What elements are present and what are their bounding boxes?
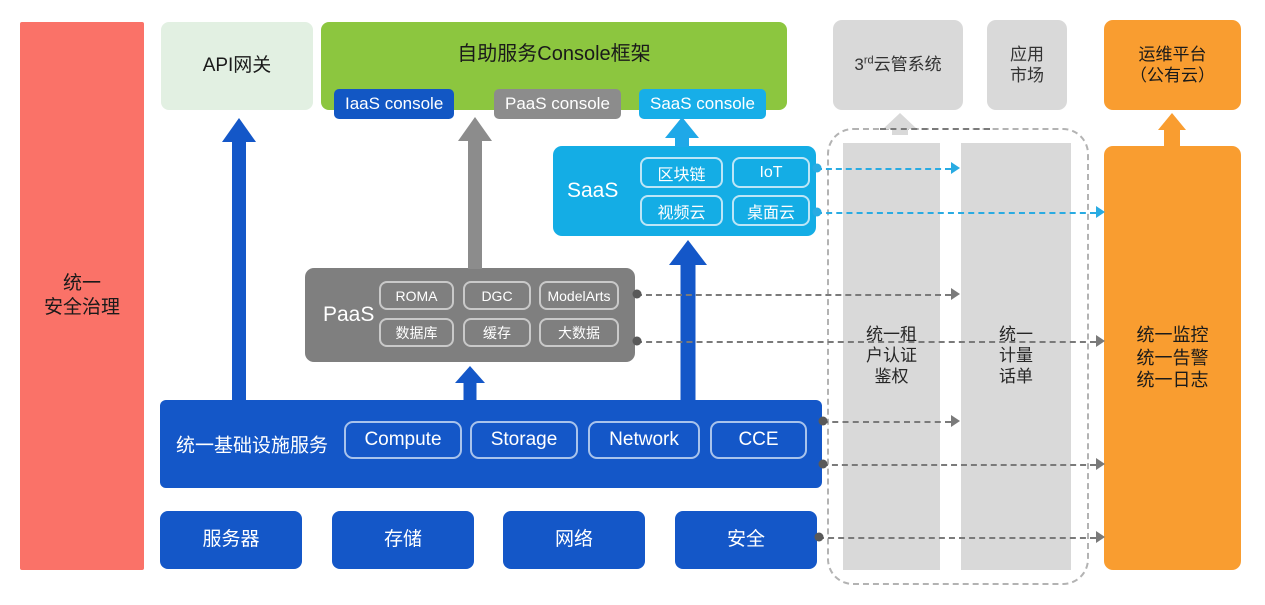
arrow-to-third-party-cloud-mgmt: [883, 113, 917, 135]
console-framework-title: 自助服务Console框架: [321, 42, 787, 67]
paas-service-cache[interactable]: 缓存: [463, 318, 531, 347]
paas-service-dgc[interactable]: DGC: [463, 281, 531, 310]
dashed-line-saas-to-ops: [816, 212, 1096, 214]
dashed-line-resource-to-ops-arrow: [1096, 531, 1105, 543]
third-party-cloud-mgmt-label: 3rd云管系统: [854, 54, 941, 75]
ops-platform-line1: 统一监控: [1137, 324, 1209, 347]
paas-service-bigdata[interactable]: 大数据: [539, 318, 619, 347]
ops-platform-column: 统一监控 统一告警 统一日志: [1104, 146, 1241, 570]
dashed-line-paas-to-ops-origin: [633, 337, 642, 346]
app-market-line1: 应用: [1010, 44, 1044, 65]
paas-layer-label: PaaS: [323, 303, 374, 327]
console-framework-box: 自助服务Console框架 IaaS console PaaS console …: [321, 22, 787, 110]
app-market-line2: 市场: [1010, 65, 1044, 86]
dashed-line-paas-to-auth: [636, 294, 951, 296]
infrastructure-layer-label: 统一基础设施服务: [176, 431, 328, 458]
infra-service-compute[interactable]: Compute: [344, 421, 462, 459]
console-chip-saas[interactable]: SaaS console: [639, 89, 766, 119]
resource-box-network-label: 网络: [555, 528, 593, 552]
paas-service-modelarts[interactable]: ModelArts: [539, 281, 619, 310]
paas-service-database[interactable]: 数据库: [379, 318, 454, 347]
dashed-line-infra-to-auth-arrow: [951, 415, 960, 427]
ops-platform-top-box: 运维平台 （公有云）: [1104, 20, 1241, 110]
resource-box-storage[interactable]: 存储: [332, 511, 474, 569]
arrow-infra-to-saas: [669, 240, 707, 400]
dashed-line-paas-to-auth-origin: [633, 290, 642, 299]
dashed-line-saas-to-ops-origin: [813, 208, 822, 217]
resource-box-network[interactable]: 网络: [503, 511, 645, 569]
arrow-to-ops-platform: [1155, 113, 1189, 149]
api-gateway-box: API网关: [161, 22, 313, 110]
resource-box-security[interactable]: 安全: [675, 511, 817, 569]
dashed-line-saas-to-auth-arrow: [951, 162, 960, 174]
infra-service-storage[interactable]: Storage: [470, 421, 578, 459]
paas-service-roma[interactable]: ROMA: [379, 281, 454, 310]
arrow-infra-to-api-gateway: [222, 118, 256, 400]
saas-service-blockchain[interactable]: 区块链: [640, 157, 723, 188]
middle-column-metering-line2: 计量: [999, 346, 1033, 367]
arrow-infra-to-paas: [455, 366, 485, 400]
dashed-line-third-party-horizontal: [880, 128, 990, 130]
security-governance-line2: 安全治理: [44, 296, 120, 320]
security-governance-column: 统一 安全治理: [20, 22, 144, 570]
middle-column-tenant-auth-line3: 鉴权: [866, 367, 917, 388]
saas-service-iot[interactable]: IoT: [732, 157, 810, 188]
infra-service-cce[interactable]: CCE: [710, 421, 807, 459]
arrow-saas-to-console: [665, 117, 699, 147]
middle-column-tenant-auth-line2: 户认证: [866, 346, 917, 367]
app-market-box: 应用 市场: [987, 20, 1067, 110]
dashed-line-resource-to-ops-origin: [815, 533, 824, 542]
infrastructure-layer-bar: 统一基础设施服务 Compute Storage Network CCE: [160, 400, 822, 488]
architecture-diagram: 统一租 户认证 鉴权 统一 计量 话单 统一 安全治理 API网关 自助服务Co…: [0, 0, 1265, 605]
middle-column-metering-line3: 话单: [999, 367, 1033, 388]
ops-platform-line3: 统一日志: [1137, 369, 1209, 392]
saas-layer-box: SaaS 区块链 IoT 视频云 桌面云: [553, 146, 816, 236]
dashed-line-infra-to-auth: [822, 421, 951, 423]
saas-layer-label: SaaS: [567, 179, 618, 203]
middle-column-tenant-auth-line1: 统一租: [866, 325, 917, 346]
saas-service-video-cloud[interactable]: 视频云: [640, 195, 723, 226]
resource-box-storage-label: 存储: [384, 528, 422, 552]
resource-box-server[interactable]: 服务器: [160, 511, 302, 569]
dashed-line-infra-to-ops-origin: [819, 460, 828, 469]
third-party-cloud-mgmt-box: 3rd云管系统: [833, 20, 963, 110]
resource-box-security-label: 安全: [727, 528, 765, 552]
dashed-line-saas-to-auth: [816, 168, 951, 170]
dashed-line-infra-to-ops: [822, 464, 1096, 466]
saas-service-desktop-cloud[interactable]: 桌面云: [732, 195, 810, 226]
paas-layer-box: PaaS ROMA DGC ModelArts 数据库 缓存 大数据: [305, 268, 635, 362]
console-chip-paas[interactable]: PaaS console: [494, 89, 621, 119]
dashed-line-paas-to-ops: [636, 341, 1096, 343]
dashed-line-resource-to-ops: [818, 537, 1096, 539]
middle-column-tenant-auth: 统一租 户认证 鉴权: [843, 143, 940, 570]
ops-platform-line2: 统一告警: [1137, 347, 1209, 370]
arrow-paas-to-console: [458, 117, 492, 269]
security-governance-line1: 统一: [44, 272, 120, 296]
infra-service-network[interactable]: Network: [588, 421, 700, 459]
api-gateway-label: API网关: [203, 54, 272, 78]
dashed-line-infra-to-ops-arrow: [1096, 458, 1105, 470]
console-chip-iaas[interactable]: IaaS console: [334, 89, 454, 119]
ops-platform-top-line2: （公有云）: [1130, 65, 1215, 86]
dashed-line-paas-to-ops-arrow: [1096, 335, 1105, 347]
dashed-line-paas-to-auth-arrow: [951, 288, 960, 300]
dashed-line-saas-to-ops-arrow: [1096, 206, 1105, 218]
dashed-line-infra-to-auth-origin: [819, 417, 828, 426]
middle-column-metering: 统一 计量 话单: [961, 143, 1071, 570]
ops-platform-top-line1: 运维平台: [1130, 44, 1215, 65]
middle-column-metering-line1: 统一: [999, 325, 1033, 346]
dashed-line-saas-to-auth-origin: [813, 164, 822, 173]
resource-box-server-label: 服务器: [202, 528, 259, 552]
